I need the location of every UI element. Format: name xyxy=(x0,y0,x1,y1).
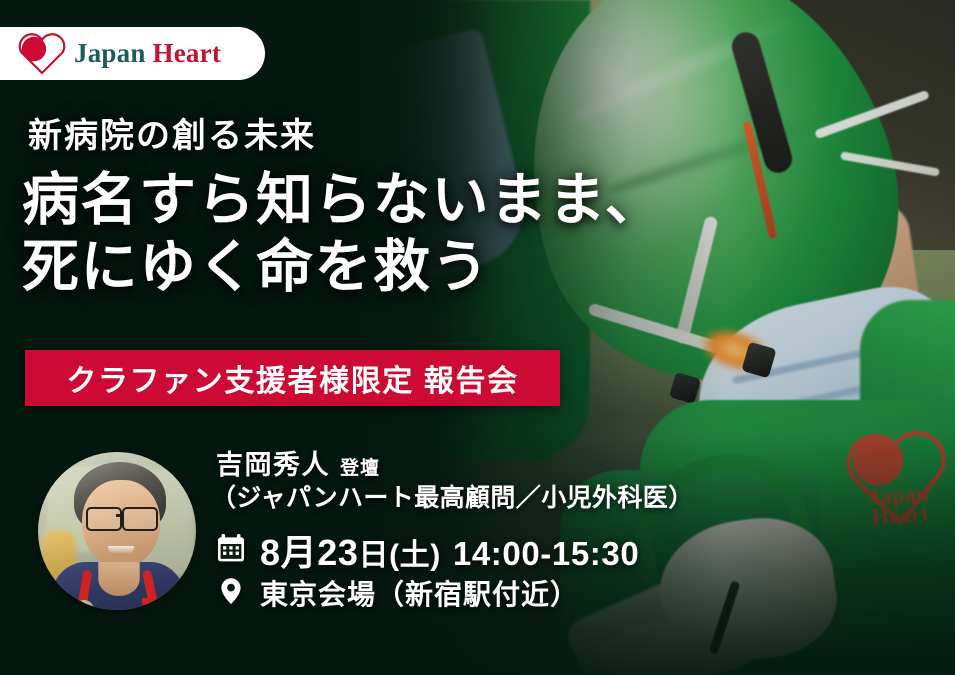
speaker-name-suffix: 登壇 xyxy=(340,458,380,479)
event-date-row: 8月23日(土)14:00-15:30 xyxy=(216,524,639,576)
banner-content: JapanHeart 新病院の創る未来 病名すら知らないまま、 死にゆく命を救う… xyxy=(0,0,955,675)
event-day-unit: 日 xyxy=(358,539,389,572)
portrait-vneck xyxy=(98,562,139,596)
event-venue-row: 東京会場（新宿駅付近） xyxy=(216,573,579,613)
map-pin-icon xyxy=(216,576,246,611)
event-time: 14:00-15:30 xyxy=(453,535,639,572)
event-banner: Japan Heart JapanHeart 新病院の創る未来 病名すら知らない… xyxy=(0,0,955,675)
japan-heart-logo-icon xyxy=(18,33,66,75)
logo-word-japan: Japan xyxy=(74,38,146,68)
event-weekday: (土) xyxy=(389,539,441,572)
logo-wordmark: JapanHeart xyxy=(74,38,221,69)
portrait-glasses-bridge xyxy=(116,514,124,517)
calendar-icon xyxy=(216,533,246,568)
event-date-text: 8月23日(土)14:00-15:30 xyxy=(260,524,639,576)
speaker-name: 吉岡秀人 xyxy=(216,450,330,480)
japan-heart-logo: JapanHeart xyxy=(0,27,265,80)
headline-line-1: 病名すら知らないまま、 xyxy=(22,168,642,235)
headline-kicker: 新病院の創る未来 xyxy=(28,108,316,157)
event-month: 8月 xyxy=(260,532,317,573)
event-venue-text: 東京会場（新宿駅付近） xyxy=(260,573,579,613)
event-type-ribbon: クラファン支援者様限定 報告会 xyxy=(25,350,560,406)
ribbon-label: クラファン支援者様限定 報告会 xyxy=(66,356,518,400)
speaker-name-row: 吉岡秀人登壇 xyxy=(216,443,380,482)
logo-word-heart: Heart xyxy=(153,38,221,68)
speaker-role: （ジャパンハート最高顧問／小児外科医） xyxy=(211,478,694,514)
portrait-stethoscope-tube xyxy=(142,598,188,610)
portrait-glasses-right xyxy=(122,507,158,531)
headline-block: 病名すら知らないまま、 死にゆく命を救う xyxy=(22,168,642,301)
headline-line-2: 死にゆく命を救う xyxy=(22,235,642,302)
speaker-portrait xyxy=(38,452,196,610)
event-day: 23 xyxy=(317,532,358,573)
portrait-glasses-left xyxy=(86,507,122,531)
